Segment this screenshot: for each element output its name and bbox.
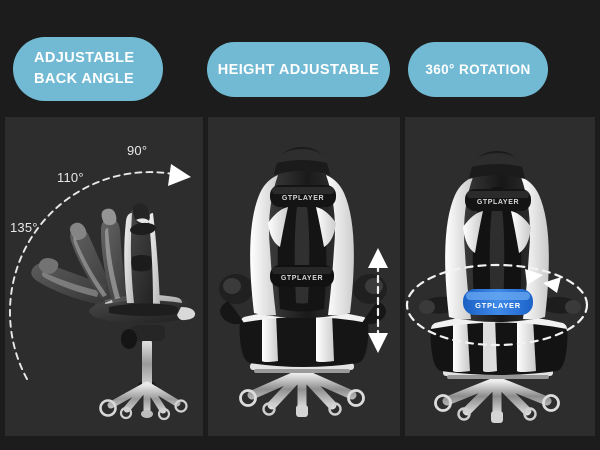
badge-row: ADJUSTABLE BACK ANGLE HEIGHT ADJUSTABLE … — [0, 0, 600, 117]
recline-illustration — [5, 117, 203, 436]
panel-rotation: GTPLAYER GTPLAYER — [405, 117, 595, 436]
angle-label-135: 135° — [10, 220, 38, 235]
headrest — [274, 147, 330, 175]
brand-text-headrest: GTPLAYER — [477, 199, 519, 206]
badge-360-rotation: 360° ROTATION — [408, 42, 548, 97]
badge-label: 360° ROTATION — [425, 62, 530, 77]
headrest-pillow: GTPLAYER — [465, 189, 531, 211]
brand-text-lumbar: GTPLAYER — [281, 275, 323, 282]
panel-height: GTPLAYER GTPLAYER — [208, 117, 400, 436]
badge-label: ADJUSTABLE BACK ANGLE — [34, 48, 134, 90]
brand-text-headrest: GTPLAYER — [282, 195, 324, 202]
badge-height-adjustable: HEIGHT ADJUSTABLE — [207, 42, 390, 97]
chair-base — [101, 325, 187, 419]
headrest-pillow: GTPLAYER — [270, 185, 336, 207]
infographic-root: ADJUSTABLE BACK ANGLE HEIGHT ADJUSTABLE … — [0, 0, 600, 450]
armrest — [109, 303, 178, 316]
badge-adjustable-back-angle: ADJUSTABLE BACK ANGLE — [13, 37, 163, 101]
angle-label-110: 110° — [57, 170, 84, 185]
lumbar-pillow: GTPLAYER — [270, 265, 334, 287]
angle-label-90: 90° — [127, 143, 147, 158]
brand-text-lumbar: GTPLAYER — [475, 301, 521, 310]
badge-label: HEIGHT ADJUSTABLE — [218, 62, 379, 78]
panel-recline: 90° 110° 135° — [5, 117, 203, 436]
height-illustration: GTPLAYER GTPLAYER — [208, 117, 400, 436]
lumbar-pillow-blue: GTPLAYER — [463, 289, 533, 315]
rotation-illustration: GTPLAYER GTPLAYER — [405, 117, 595, 436]
headrest — [469, 151, 525, 179]
backrest-upright-90 — [124, 203, 160, 305]
chair-seat — [240, 310, 369, 367]
